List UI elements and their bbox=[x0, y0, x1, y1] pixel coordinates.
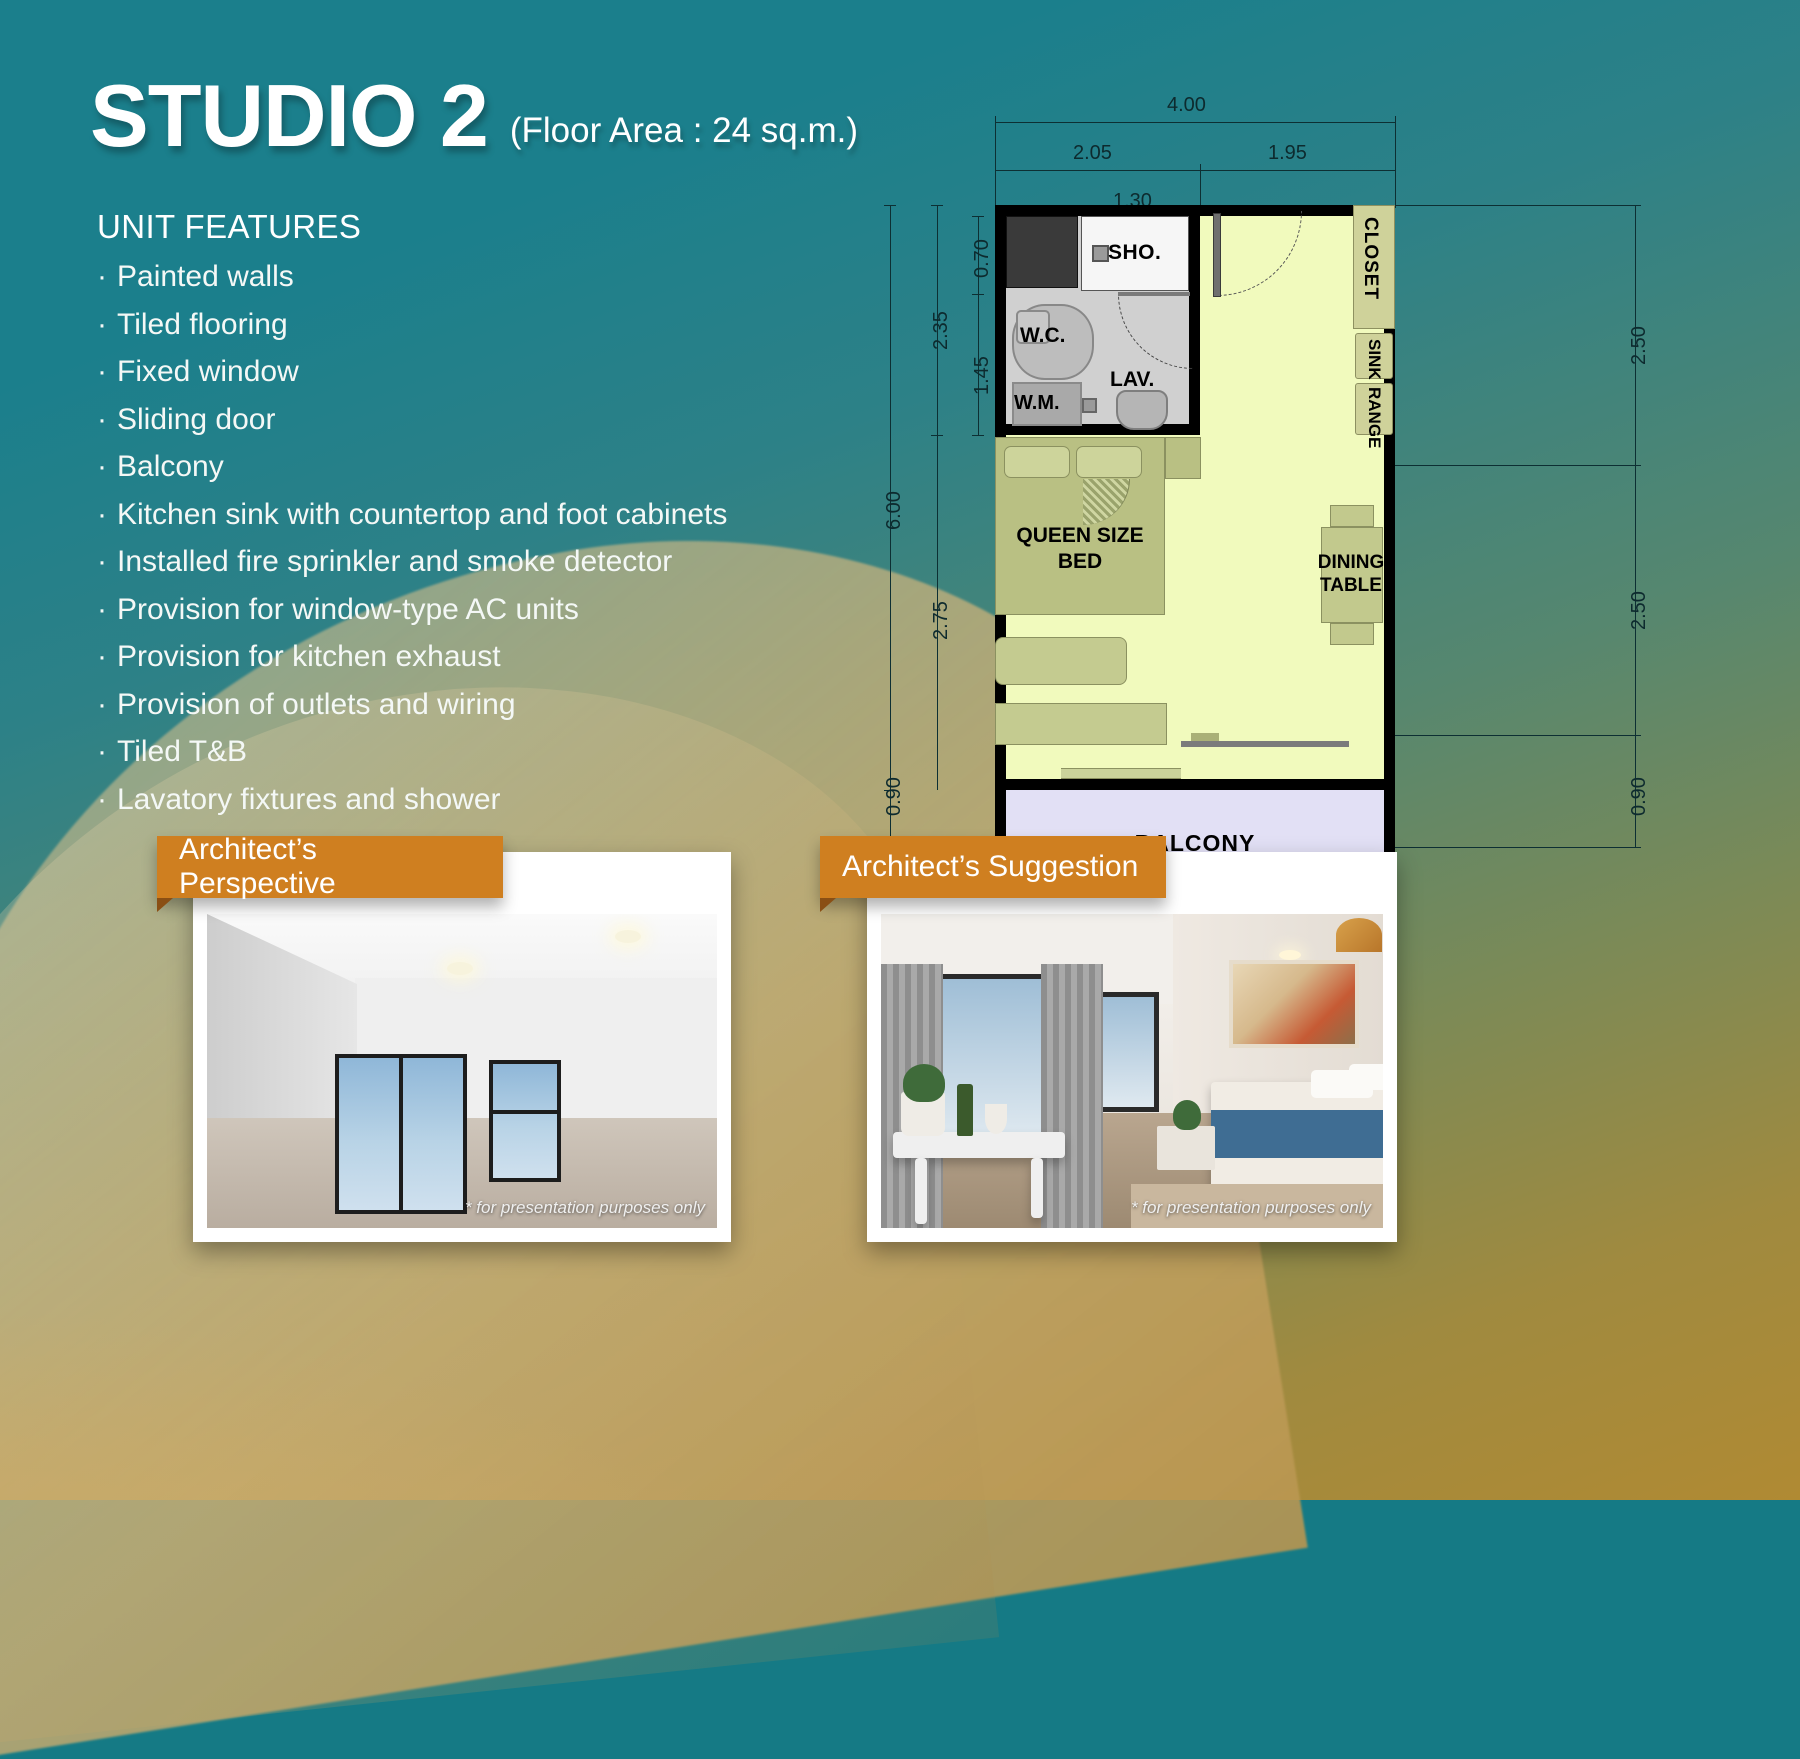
floor-area-text: (Floor Area : 24 sq.m.) bbox=[510, 111, 858, 151]
dining-label-line1: DINING bbox=[1313, 551, 1389, 574]
unit-features-heading: UNIT FEATURES bbox=[97, 208, 361, 246]
list-item: ·Installed fire sprinkler and smoke dete… bbox=[97, 538, 857, 586]
photo-credit: * for presentation purposes only bbox=[465, 1198, 705, 1218]
dim-left-wc: 1.45 bbox=[971, 356, 994, 395]
table-leg bbox=[915, 1158, 927, 1224]
list-item: ·Provision for kitchen exhaust bbox=[97, 633, 857, 681]
photo-credit: * for presentation purposes only bbox=[1131, 1198, 1371, 1218]
empty-room-render: * for presentation purposes only bbox=[207, 914, 717, 1228]
feature-label: Tiled T&B bbox=[117, 735, 247, 768]
dim-extension bbox=[1395, 847, 1640, 848]
bullet-icon: · bbox=[97, 776, 117, 824]
dining-table-label: DINING TABLE bbox=[1313, 551, 1389, 597]
unit-plan-body: SHO. W.C. W.M. LAV. CLOSET SINK RANGE bbox=[995, 205, 1395, 790]
floor-plan-drawing: 4.00 2.05 1.95 1.30 6.00 2.35 2.75 0.70 … bbox=[845, 50, 1755, 810]
bathroom-window-icon bbox=[1006, 216, 1078, 288]
sliding-door-sill-icon bbox=[1181, 741, 1349, 747]
dim-extension bbox=[1200, 170, 1201, 210]
dim-left-balcony: 0.90 bbox=[883, 777, 906, 816]
sliding-door-panel-icon bbox=[1191, 733, 1219, 741]
dim-left-sho: 0.70 bbox=[971, 239, 994, 278]
sink-label: SINK bbox=[1364, 339, 1384, 380]
feature-label: Fixed window bbox=[117, 355, 299, 388]
dim-left-room: 2.75 bbox=[930, 601, 953, 640]
bed-label-line1: QUEEN SIZE bbox=[1005, 523, 1155, 549]
feature-label: Provision for window-type AC units bbox=[117, 593, 579, 626]
feature-label: Provision for kitchen exhaust bbox=[117, 640, 501, 673]
ceiling-light-icon bbox=[1279, 950, 1301, 960]
ceiling-light-icon bbox=[447, 962, 473, 975]
sliding-door-opening bbox=[1061, 768, 1181, 779]
curtain-middle bbox=[1041, 964, 1103, 1228]
list-item: ·Provision of outlets and wiring bbox=[97, 681, 857, 729]
bullet-icon: · bbox=[97, 301, 117, 349]
bathroom-door-leaf-icon bbox=[1118, 292, 1190, 296]
window-mullion bbox=[489, 1110, 561, 1114]
pillow-icon bbox=[1004, 446, 1070, 478]
bullet-icon: · bbox=[97, 253, 117, 301]
dim-left-bath-total: 2.35 bbox=[930, 311, 953, 350]
pendant-lamp-icon bbox=[1336, 918, 1382, 952]
bed-blanket-icon bbox=[1211, 1110, 1383, 1158]
architects-suggestion-tag: Architect’s Suggestion bbox=[820, 836, 1166, 898]
list-item: ·Balcony bbox=[97, 443, 857, 491]
table-leg bbox=[1031, 1158, 1043, 1218]
lavatory-label: LAV. bbox=[1110, 368, 1154, 392]
list-item: ·Provision for window-type AC units bbox=[97, 586, 857, 634]
bottle-icon bbox=[957, 1084, 973, 1136]
dim-extension bbox=[995, 122, 996, 208]
dining-chair-icon bbox=[1330, 623, 1374, 645]
dim-tick bbox=[972, 216, 984, 217]
feature-label: Installed fire sprinkler and smoke detec… bbox=[117, 545, 672, 578]
feature-label: Balcony bbox=[117, 450, 224, 483]
foot-cabinet-icon bbox=[995, 703, 1167, 745]
shower-drain-icon bbox=[1092, 245, 1109, 262]
furnished-room-render: * for presentation purposes only bbox=[881, 914, 1383, 1228]
dim-tick bbox=[931, 205, 943, 206]
dining-chair-icon bbox=[1330, 505, 1374, 527]
bathroom-door-swing-arc-icon bbox=[1118, 294, 1193, 369]
feature-label: Painted walls bbox=[117, 260, 294, 293]
list-item: ·Lavatory fixtures and shower bbox=[97, 776, 857, 824]
list-item: ·Sliding door bbox=[97, 396, 857, 444]
nightstand-icon bbox=[1157, 1126, 1215, 1170]
feature-label: Tiled flooring bbox=[117, 308, 288, 341]
dim-top-overall: 4.00 bbox=[1167, 94, 1206, 117]
bullet-icon: · bbox=[97, 728, 117, 776]
dining-label-line2: TABLE bbox=[1313, 574, 1389, 597]
fixed-window-glass bbox=[489, 1060, 561, 1182]
architects-suggestion-card: * for presentation purposes only Archite… bbox=[867, 852, 1397, 1242]
bullet-icon: · bbox=[97, 586, 117, 634]
bathroom-block: SHO. W.C. W.M. LAV. bbox=[995, 205, 1200, 435]
architects-perspective-card: * for presentation purposes only Archite… bbox=[193, 852, 731, 1242]
pillow-icon bbox=[1076, 446, 1142, 478]
closet-label: CLOSET bbox=[1359, 217, 1381, 300]
list-item: ·Tiled T&B bbox=[97, 728, 857, 776]
wine-glass-icon bbox=[985, 1104, 1007, 1134]
architects-perspective-tag: Architect’s Perspective bbox=[157, 836, 503, 898]
feature-label: Lavatory fixtures and shower bbox=[117, 783, 501, 816]
bullet-icon: · bbox=[97, 396, 117, 444]
list-item: ·Tiled flooring bbox=[97, 301, 857, 349]
dim-extension bbox=[1395, 735, 1640, 736]
range-label: RANGE bbox=[1364, 387, 1384, 448]
bullet-icon: · bbox=[97, 348, 117, 396]
bullet-icon: · bbox=[97, 633, 117, 681]
entry-door-leaf-icon bbox=[1213, 213, 1221, 297]
tag-label: Architect’s Suggestion bbox=[842, 850, 1138, 884]
nightstand-icon bbox=[1165, 437, 1201, 479]
unit-features-list: ·Painted walls ·Tiled flooring ·Fixed wi… bbox=[97, 253, 857, 823]
ceiling-light-icon bbox=[615, 930, 641, 943]
bullet-icon: · bbox=[97, 491, 117, 539]
dim-line-top-overall bbox=[995, 122, 1395, 123]
wall-art-icon bbox=[1229, 960, 1359, 1048]
dim-top-left-seg: 2.05 bbox=[1073, 142, 1112, 165]
dim-right-upper: 2.50 bbox=[1628, 326, 1651, 365]
bathroom-floor: SHO. W.C. W.M. LAV. bbox=[1006, 216, 1189, 424]
dim-tick bbox=[884, 205, 896, 206]
bed-label: QUEEN SIZE BED bbox=[1005, 523, 1155, 575]
title-text: STUDIO 2 bbox=[90, 72, 488, 160]
dim-top-right-seg: 1.95 bbox=[1268, 142, 1307, 165]
shower-stall: SHO. bbox=[1081, 216, 1189, 291]
lavatory-icon bbox=[1116, 390, 1168, 430]
list-item: ·Fixed window bbox=[97, 348, 857, 396]
shower-label: SHO. bbox=[1108, 241, 1161, 265]
feature-label: Provision of outlets and wiring bbox=[117, 688, 516, 721]
wc-label: W.C. bbox=[1020, 324, 1066, 348]
dim-right-balcony: 0.90 bbox=[1628, 777, 1651, 816]
plant-icon bbox=[903, 1064, 945, 1102]
list-item: ·Kitchen sink with countertop and foot c… bbox=[97, 491, 857, 539]
perspective-photo: * for presentation purposes only bbox=[207, 914, 717, 1228]
dim-left-overall: 6.00 bbox=[883, 491, 906, 530]
suggestion-photo: * for presentation purposes only bbox=[881, 914, 1383, 1228]
tag-label: Architect’s Perspective bbox=[179, 833, 481, 901]
bullet-icon: · bbox=[97, 538, 117, 586]
dim-extension bbox=[1395, 122, 1396, 208]
sliding-door-mullion bbox=[399, 1054, 403, 1214]
dim-right-lower: 2.50 bbox=[1628, 591, 1651, 630]
kitchen-countertop-icon bbox=[995, 637, 1127, 685]
list-item: ·Painted walls bbox=[97, 253, 857, 301]
page-title: STUDIO 2 (Floor Area : 24 sq.m.) bbox=[90, 72, 858, 160]
dim-line-top-right bbox=[1200, 170, 1395, 171]
dim-extension bbox=[1395, 205, 1640, 206]
pillow-icon bbox=[1349, 1064, 1383, 1090]
dim-extension bbox=[1395, 465, 1640, 466]
dim-line-top-left bbox=[995, 170, 1200, 171]
bullet-icon: · bbox=[97, 681, 117, 729]
washing-machine-label: W.M. bbox=[1014, 392, 1060, 415]
plant-icon bbox=[1173, 1100, 1201, 1130]
bed-label-line2: BED bbox=[1005, 549, 1155, 575]
dim-tick bbox=[972, 435, 984, 436]
feature-label: Kitchen sink with countertop and foot ca… bbox=[117, 498, 727, 531]
floor-drain-icon bbox=[1082, 398, 1097, 413]
bullet-icon: · bbox=[97, 443, 117, 491]
feature-label: Sliding door bbox=[117, 403, 275, 436]
